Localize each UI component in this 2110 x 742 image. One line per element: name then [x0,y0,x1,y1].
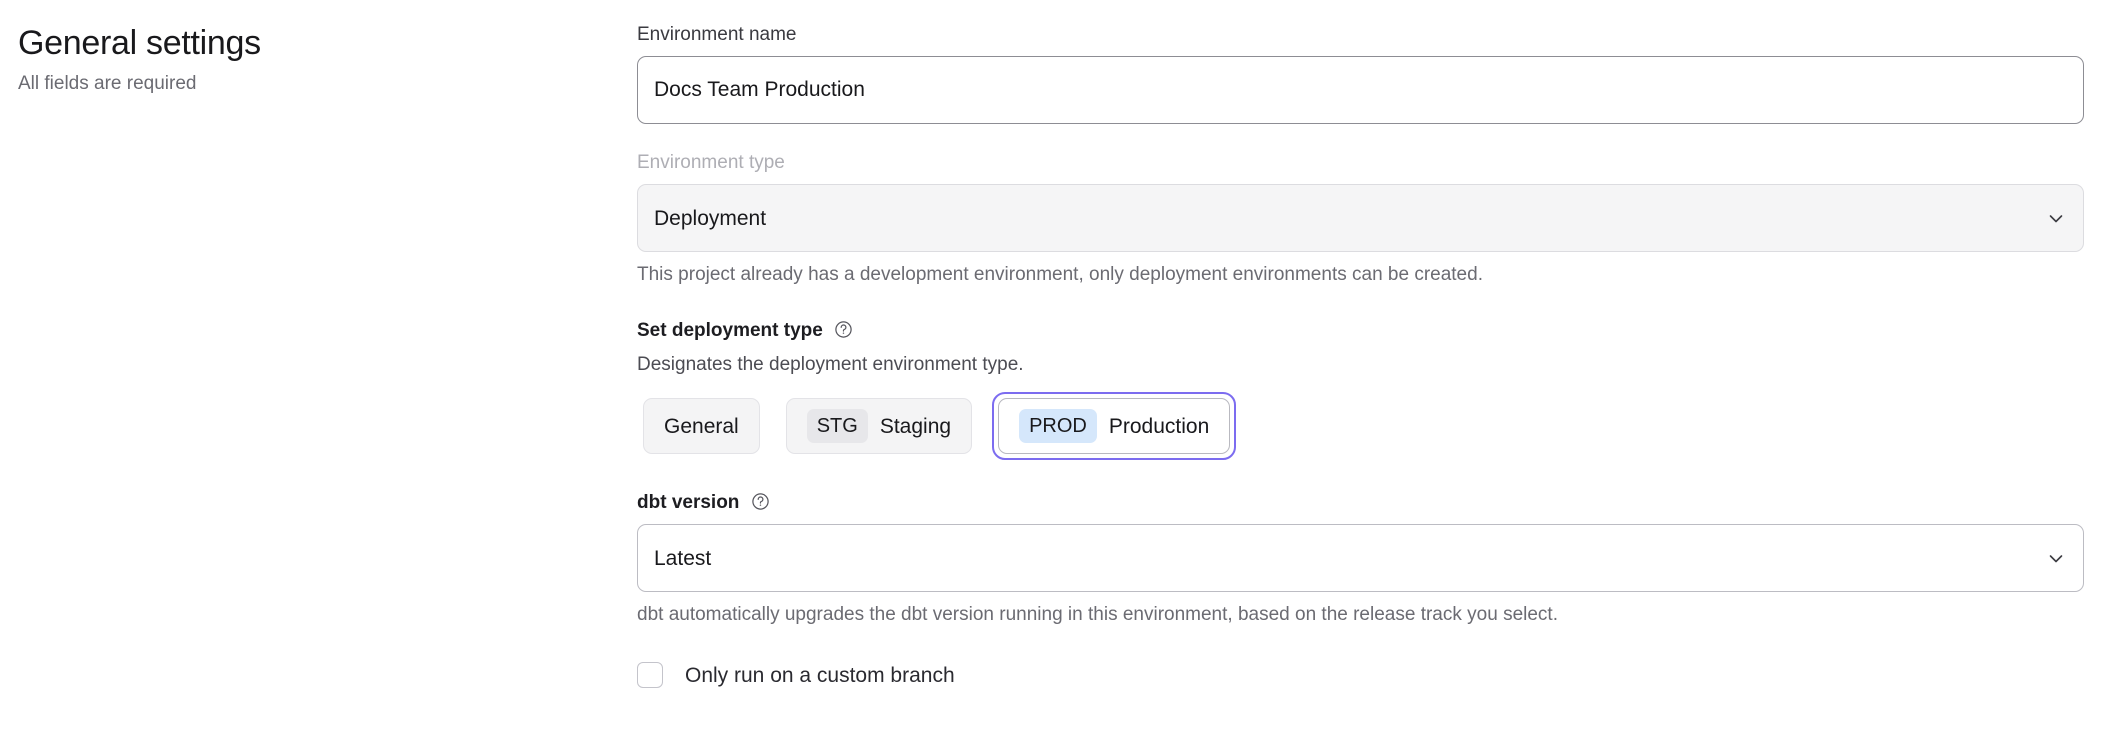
environment-type-helper: This project already has a development e… [637,262,2084,288]
environment-name-field: Environment name Docs Team Production [637,22,2084,124]
chevron-down-icon [2045,547,2067,569]
deployment-type-description: Designates the deployment environment ty… [637,352,2084,378]
deployment-option-general-label: General [664,416,739,437]
settings-form: Environment name Docs Team Production En… [637,22,2084,688]
environment-name-input[interactable]: Docs Team Production [637,56,2084,124]
deployment-type-label: Set deployment type [637,318,2084,344]
page-title: General settings [18,22,578,64]
settings-header: General settings All fields are required [18,22,578,97]
deployment-option-production-wrap: PROD Production [992,392,1236,460]
environment-type-select[interactable]: Deployment [637,184,2084,252]
deployment-option-staging-wrap: STG Staging [780,392,978,460]
deployment-option-general-wrap: General [637,392,766,460]
environment-type-label: Environment type [637,150,2084,176]
help-circle-icon[interactable] [751,492,770,511]
deployment-option-production[interactable]: PROD Production [998,398,1230,454]
environment-type-value: Deployment [654,208,766,229]
dbt-version-value: Latest [654,548,711,569]
deployment-type-options: General STG Staging PROD Production [637,392,2084,460]
custom-branch-row[interactable]: Only run on a custom branch [637,662,2084,688]
deployment-option-general[interactable]: General [643,398,760,454]
staging-badge: STG [807,409,868,443]
deployment-option-staging-label: Staging [880,416,951,437]
dbt-version-label: dbt version [637,490,2084,516]
production-badge: PROD [1019,409,1097,443]
page-subtitle: All fields are required [18,71,578,97]
deployment-option-staging[interactable]: STG Staging [786,398,972,454]
custom-branch-checkbox[interactable] [637,662,663,688]
dbt-version-label-text: dbt version [637,492,739,513]
help-circle-icon[interactable] [834,320,853,339]
deployment-type-label-text: Set deployment type [637,320,823,341]
dbt-version-field: dbt version Latest dbt automatica [637,490,2084,628]
custom-branch-label: Only run on a custom branch [685,665,955,686]
dbt-version-helper: dbt automatically upgrades the dbt versi… [637,602,2084,628]
environment-name-label: Environment name [637,22,2084,48]
general-settings-page: General settings All fields are required… [0,0,2110,742]
environment-name-value: Docs Team Production [654,78,865,102]
environment-type-field: Environment type Deployment This project… [637,150,2084,288]
dbt-version-select[interactable]: Latest [637,524,2084,592]
chevron-down-icon [2045,207,2067,229]
deployment-option-production-label: Production [1109,416,1209,437]
deployment-type-field: Set deployment type Designates the deplo… [637,318,2084,460]
